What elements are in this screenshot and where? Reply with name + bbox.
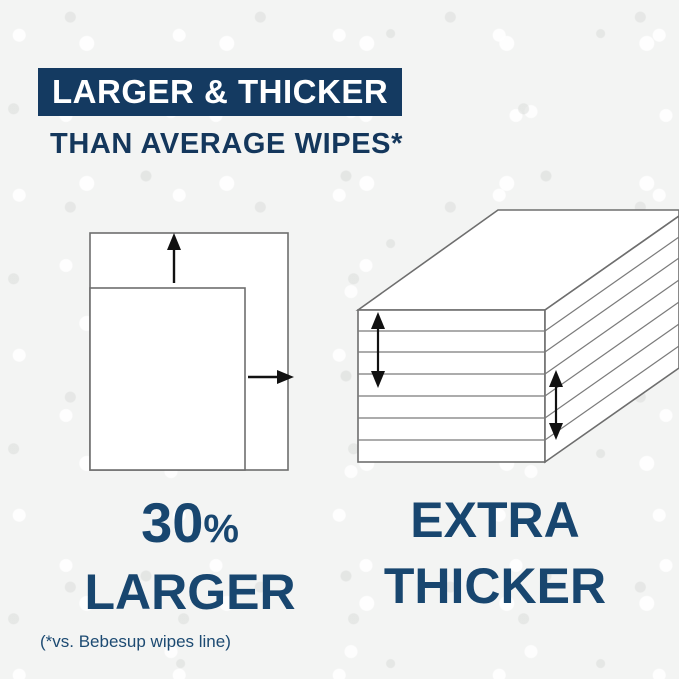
larger-stat: 30% LARGER xyxy=(40,495,340,617)
thickness-diagram xyxy=(358,210,679,462)
larger-value: 30 xyxy=(141,491,203,554)
stack-front-face xyxy=(358,310,545,462)
average-wipe-outline xyxy=(90,288,245,470)
larger-percent: % xyxy=(203,507,239,551)
thicker-label: THICKER xyxy=(340,561,650,611)
thicker-stat: EXTRA THICKER xyxy=(340,495,650,611)
diagram-area xyxy=(0,200,679,500)
headline-banner: LARGER & THICKER xyxy=(38,68,402,116)
thicker-value: EXTRA xyxy=(410,492,579,548)
diagram-svg xyxy=(0,200,679,500)
larger-label: LARGER xyxy=(40,567,340,617)
subheadline: THAN AVERAGE WIPES* xyxy=(50,128,403,161)
size-comparison-diagram xyxy=(90,233,294,470)
promo-content: LARGER & THICKER THAN AVERAGE WIPES* xyxy=(0,0,679,679)
footnote: (*vs. Bebesup wipes line) xyxy=(40,632,231,652)
